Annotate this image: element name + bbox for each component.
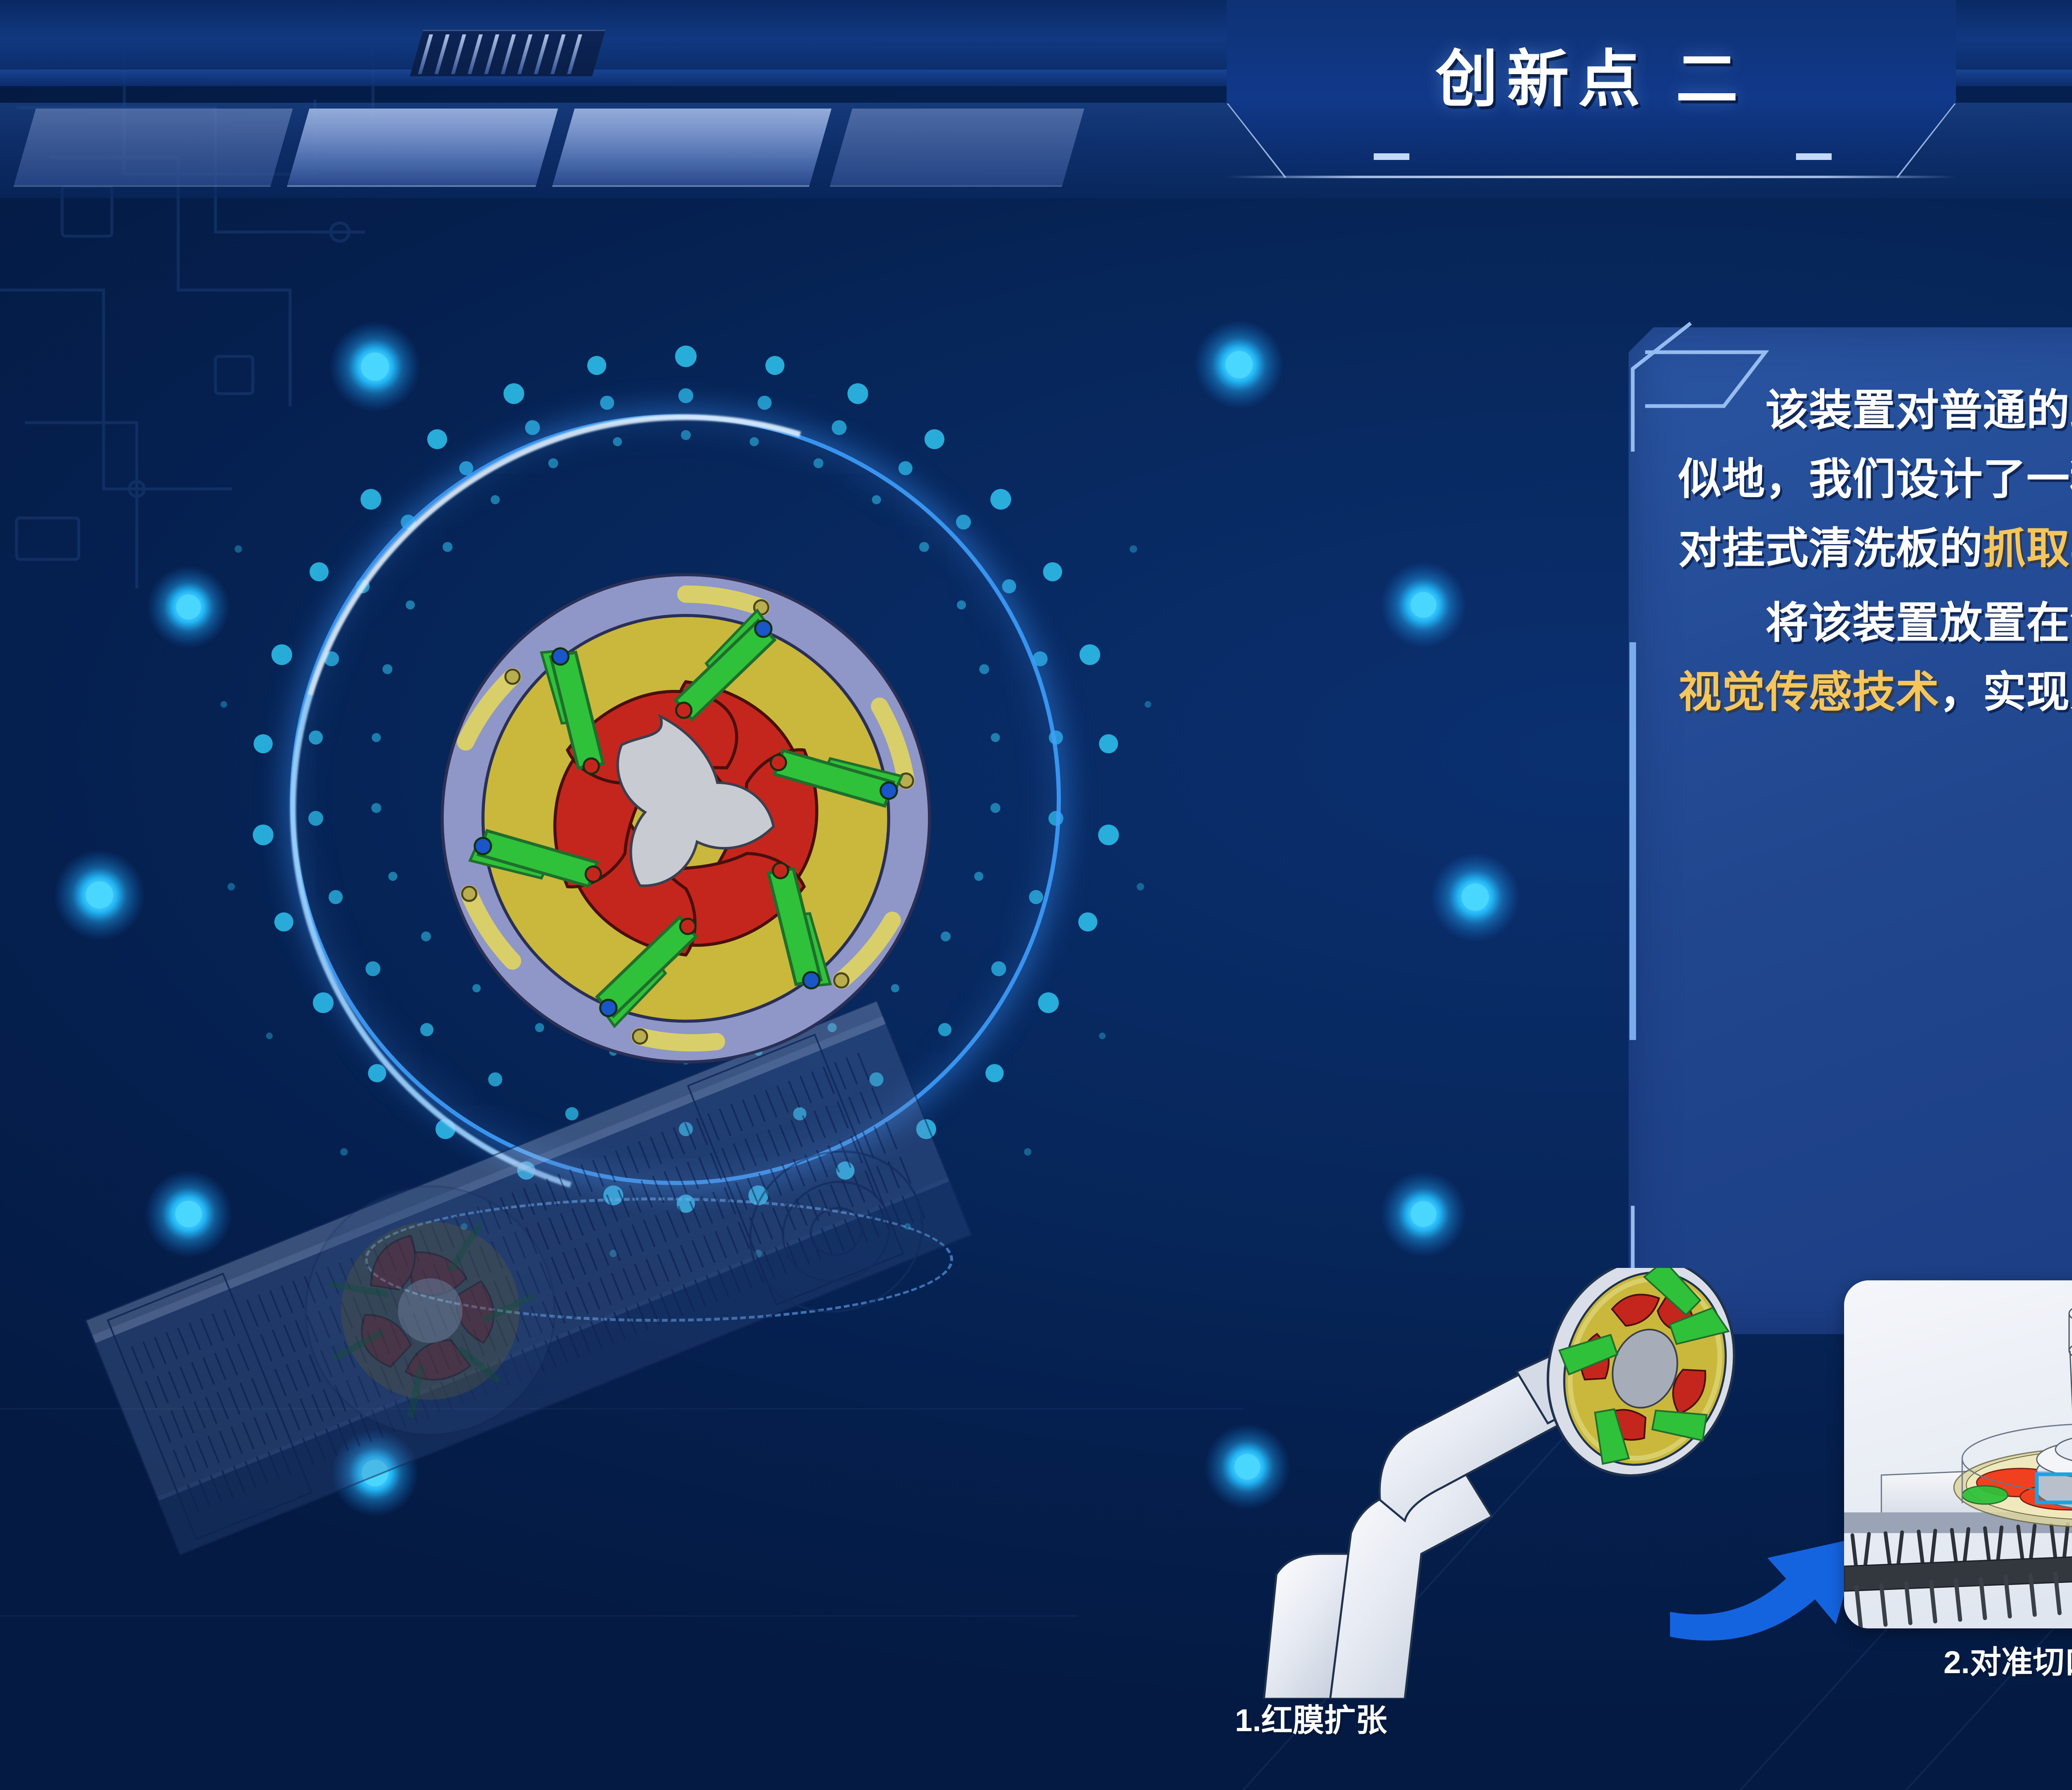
p2-run-1: 视觉传感技术 [1678, 668, 1939, 716]
step-2-label: 2.对准切口 [1944, 1637, 2072, 1682]
page-title-text: 创新点 二 [1435, 29, 1747, 119]
page-title: 创新点 二 [0, 29, 2072, 119]
p1-run-1: 虹膜机构 [2070, 387, 2072, 435]
slide-header: 创新点 二 [0, 0, 2072, 178]
title-underline-left [1374, 153, 1409, 160]
p2-run-0: 将该装置放置在清洗车的机械臂上，通过机械臂控制虹膜机构，结合 [1765, 599, 2072, 647]
description-panel: 该装置对普通的虹膜机构进行创新，利用虹膜的收缩和扩张机制。类似地，我们设计了一种… [1629, 327, 2072, 1334]
process-steps-group: 1.红膜扩张 [1202, 1268, 2072, 1790]
iris-illustration-group: 虹膜机构卡扣 [157, 315, 1359, 1599]
header-slab-4 [830, 109, 1084, 185]
title-underline-right [1796, 153, 1832, 160]
p2-run-2: ，实现对挂式清洗板的 [1939, 668, 2072, 716]
description-paragraph-2: 将该装置放置在清洗车的机械臂上，通过机械臂控制虹膜机构，结合视觉传感技术，实现对… [1678, 589, 2072, 727]
step-1-label: 1.红膜扩张 [1235, 1695, 1387, 1740]
description-paragraph-1: 该装置对普通的虹膜机构进行创新，利用虹膜的收缩和扩张机制。类似地，我们设计了一种… [1678, 376, 2072, 583]
description-panel-text: 该装置对普通的虹膜机构进行创新，利用虹膜的收缩和扩张机制。类似地，我们设计了一种… [1678, 376, 2072, 733]
p1-run-0: 该装置对普通的 [1765, 387, 2070, 435]
header-slab-1 [14, 109, 293, 185]
iris-mechanism-diagram [431, 564, 941, 1073]
p1-run-5: 抓取与放置 [1983, 525, 2072, 573]
process-step-2: 2.对准切口 [1844, 1280, 2072, 1691]
step-2-photo [1844, 1280, 2072, 1628]
header-slab-3 [552, 109, 831, 185]
header-slab-2 [287, 109, 558, 185]
presentation-slide: 创新点 二 [0, 0, 2072, 1790]
